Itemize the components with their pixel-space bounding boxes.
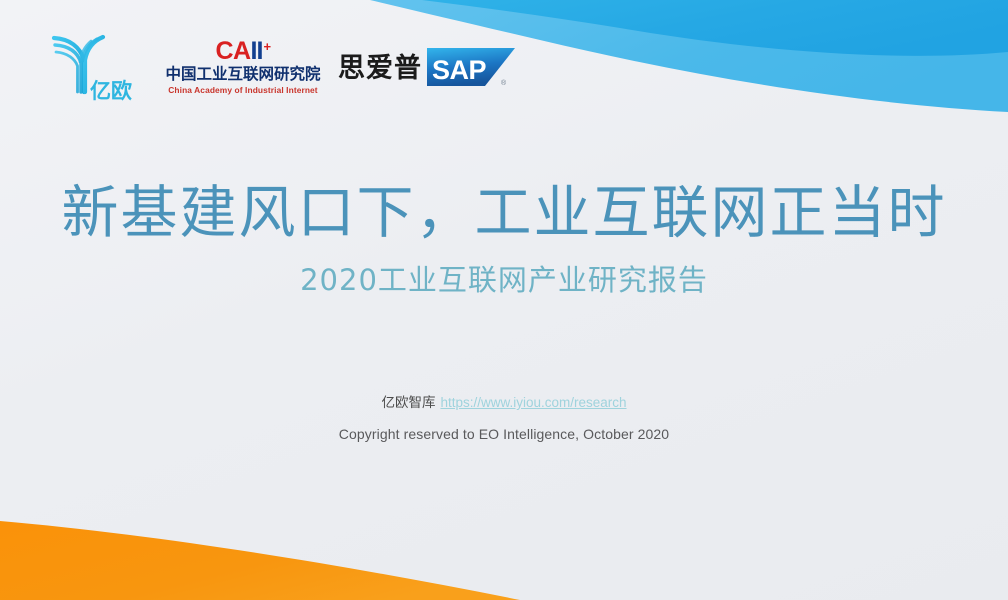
caii-acronym-ca: CA	[215, 39, 250, 64]
svg-text:®: ®	[501, 79, 507, 87]
caii-acronym-plus: +	[263, 40, 270, 53]
footer-org-name: 亿欧智库	[381, 395, 435, 411]
footer-source-line: 亿欧智库https://www.iyiou.com/research	[0, 393, 1008, 413]
svg-text:SAP: SAP	[432, 55, 487, 85]
wave-orange	[0, 521, 520, 600]
logo-bar: 亿欧 CAII+ 中国工业互联网研究院 China Academy of Ind…	[46, 32, 517, 104]
eo-intelligence-logo: 亿欧	[46, 32, 150, 104]
title-block: 新基建风口下，工业互联网正当时 2020工业互联网产业研究报告	[0, 182, 1008, 298]
footer-url-link[interactable]: https://www.iyiou.com/research	[440, 395, 626, 410]
sap-wordmark-mark: SAP ®	[427, 46, 517, 90]
presentation-cover-slide: 亿欧 CAII+ 中国工业互联网研究院 China Academy of Ind…	[0, 0, 1008, 600]
caii-acronym-ii: II	[251, 39, 263, 64]
caii-logo: CAII+ 中国工业互联网研究院 China Academy of Indust…	[164, 39, 322, 97]
eo-wordmark: 亿欧	[90, 79, 132, 103]
sap-chinese-name: 思爱普	[338, 55, 422, 82]
caii-acronym: CAII+	[215, 39, 270, 64]
caii-chinese-name: 中国工业互联网研究院	[165, 66, 320, 84]
page-title: 新基建风口下，工业互联网正当时	[0, 182, 1008, 246]
sap-logo: 思爱普 SAP ®	[338, 46, 517, 90]
page-subtitle: 2020工业互联网产业研究报告	[0, 263, 1008, 298]
footer: 亿欧智库https://www.iyiou.com/research Copyr…	[0, 393, 1008, 442]
footer-copyright: Copyright reserved to EO Intelligence, O…	[0, 426, 1008, 442]
caii-english-name: China Academy of Industrial Internet	[168, 85, 317, 95]
